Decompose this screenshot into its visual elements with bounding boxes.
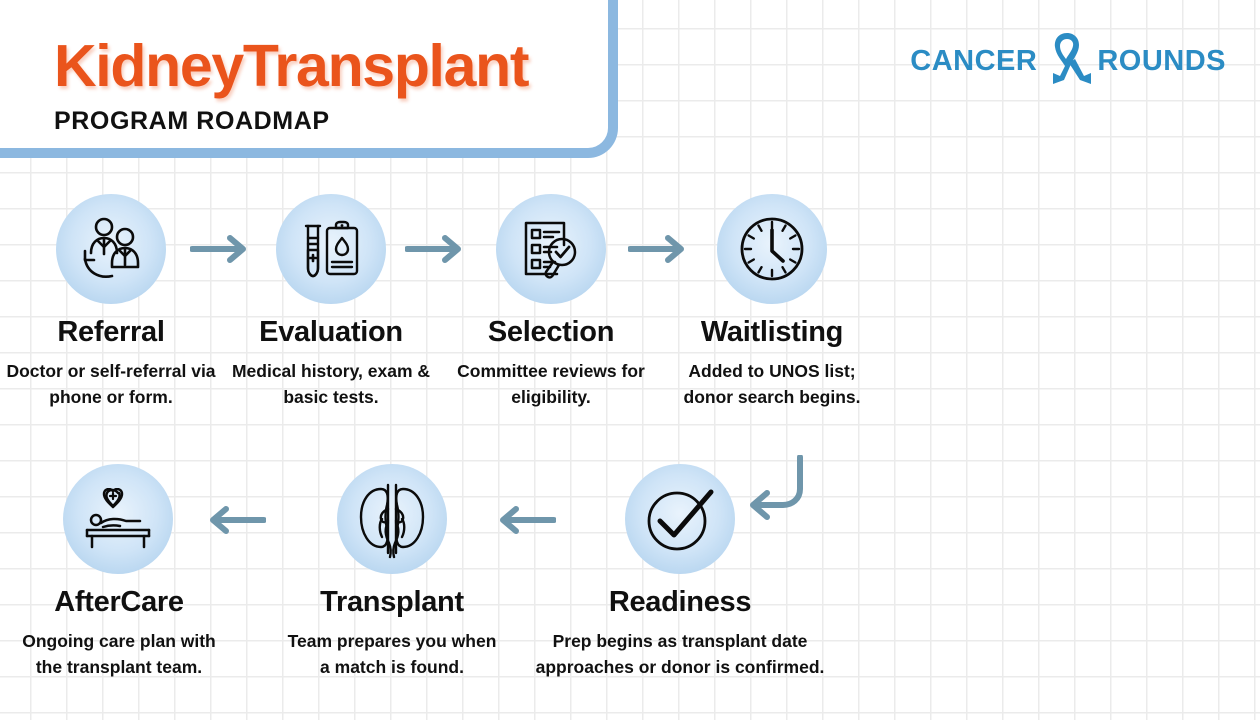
people-referral-icon	[75, 213, 147, 285]
step-selection[interactable]: Selection Committee reviews for eligibil…	[441, 194, 661, 410]
step-title: Evaluation	[221, 316, 441, 349]
arrow-selection-waitlisting	[628, 232, 694, 271]
page-title: KidneyTransplant	[54, 36, 528, 97]
step-title: Selection	[441, 316, 661, 349]
clock-icon	[736, 213, 808, 285]
step-icon-circle	[717, 194, 827, 304]
step-description: Ongoing care plan with the transplant te…	[8, 629, 230, 680]
step-icon-circle	[63, 464, 173, 574]
page-subtitle: PROGRAM ROADMAP	[54, 107, 528, 136]
banner-accent-strip	[0, 148, 24, 158]
brand-logo[interactable]: CANCER ROUNDS	[910, 30, 1226, 93]
kidneys-icon	[355, 479, 429, 559]
logo-word-left: CANCER	[910, 45, 1037, 78]
check-circle-icon	[643, 482, 717, 556]
step-title: Waitlisting	[662, 316, 882, 349]
checklist-magnifier-icon	[517, 215, 585, 283]
step-description: Prep begins as transplant date approache…	[520, 629, 840, 680]
step-title: Transplant	[282, 586, 502, 619]
step-description: Doctor or self-referral via phone or for…	[0, 359, 222, 410]
step-transplant[interactable]: Transplant Team prepares you when a matc…	[282, 464, 502, 680]
arrow-transplant-aftercare	[200, 503, 266, 542]
step-aftercare[interactable]: AfterCare Ongoing care plan with the tra…	[8, 464, 230, 680]
step-evaluation[interactable]: Evaluation Medical history, exam & basic…	[221, 194, 441, 410]
step-icon-circle	[276, 194, 386, 304]
logo-word-right: ROUNDS	[1097, 45, 1226, 78]
step-description: Committee reviews for eligibility.	[441, 359, 661, 410]
step-icon-circle	[337, 464, 447, 574]
awareness-ribbon-icon	[1039, 30, 1095, 93]
step-waitlisting[interactable]: Waitlisting Added to UNOS list; donor se…	[662, 194, 882, 410]
arrow-readiness-transplant	[490, 503, 556, 542]
step-title: Referral	[0, 316, 222, 349]
patient-bed-heart-icon	[82, 488, 154, 550]
step-description: Team prepares you when a match is found.	[282, 629, 502, 680]
step-icon-circle	[496, 194, 606, 304]
step-title: AfterCare	[8, 586, 230, 619]
arrow-evaluation-selection	[405, 232, 471, 271]
surgeon-kidney-photo	[880, 328, 1260, 720]
step-referral[interactable]: Referral Doctor or self-referral via pho…	[0, 194, 222, 410]
test-tube-clipboard-icon	[298, 216, 364, 282]
step-icon-circle	[56, 194, 166, 304]
step-description: Added to UNOS list; donor search begins.	[662, 359, 882, 410]
step-icon-circle	[625, 464, 735, 574]
header-text-block: KidneyTransplant PROGRAM ROADMAP	[54, 36, 528, 136]
step-title: Readiness	[520, 586, 840, 619]
arrow-waitlisting-readiness	[745, 455, 811, 530]
step-description: Medical history, exam & basic tests.	[221, 359, 441, 410]
arrow-referral-evaluation	[190, 232, 256, 271]
